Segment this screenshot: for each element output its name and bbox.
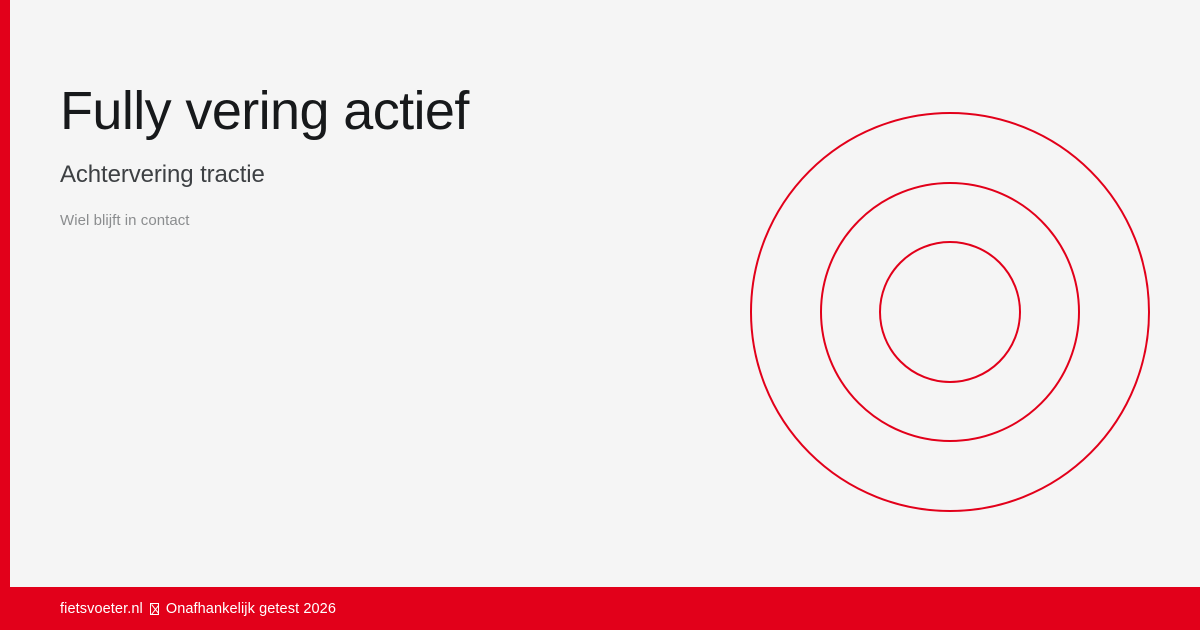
outer-ring — [751, 113, 1149, 511]
poster-canvas: Fully vering actief Achtervering tractie… — [0, 0, 1200, 630]
page-title: Fully vering actief — [60, 84, 680, 139]
footer-site-name: fietsvoeter.nl — [60, 601, 143, 617]
footer-claim: Onafhankelijk getest 2026 — [166, 601, 336, 617]
headline-block: Fully vering actief Achtervering tractie… — [60, 84, 680, 230]
page-caption: Wiel blijft in contact — [60, 190, 680, 230]
middle-ring — [821, 183, 1079, 441]
inner-ring — [880, 242, 1020, 382]
tofu-box-glyph — [150, 603, 159, 615]
footer-text: fietsvoeter.nl Onafhankelijk getest 2026 — [60, 601, 336, 617]
concentric-circles-target — [740, 102, 1160, 522]
footer-bar: fietsvoeter.nl Onafhankelijk getest 2026 — [0, 587, 1200, 630]
concentric-circles-svg — [740, 102, 1160, 522]
page-subtitle: Achtervering tractie — [60, 139, 680, 190]
left-accent-bar — [0, 0, 10, 630]
